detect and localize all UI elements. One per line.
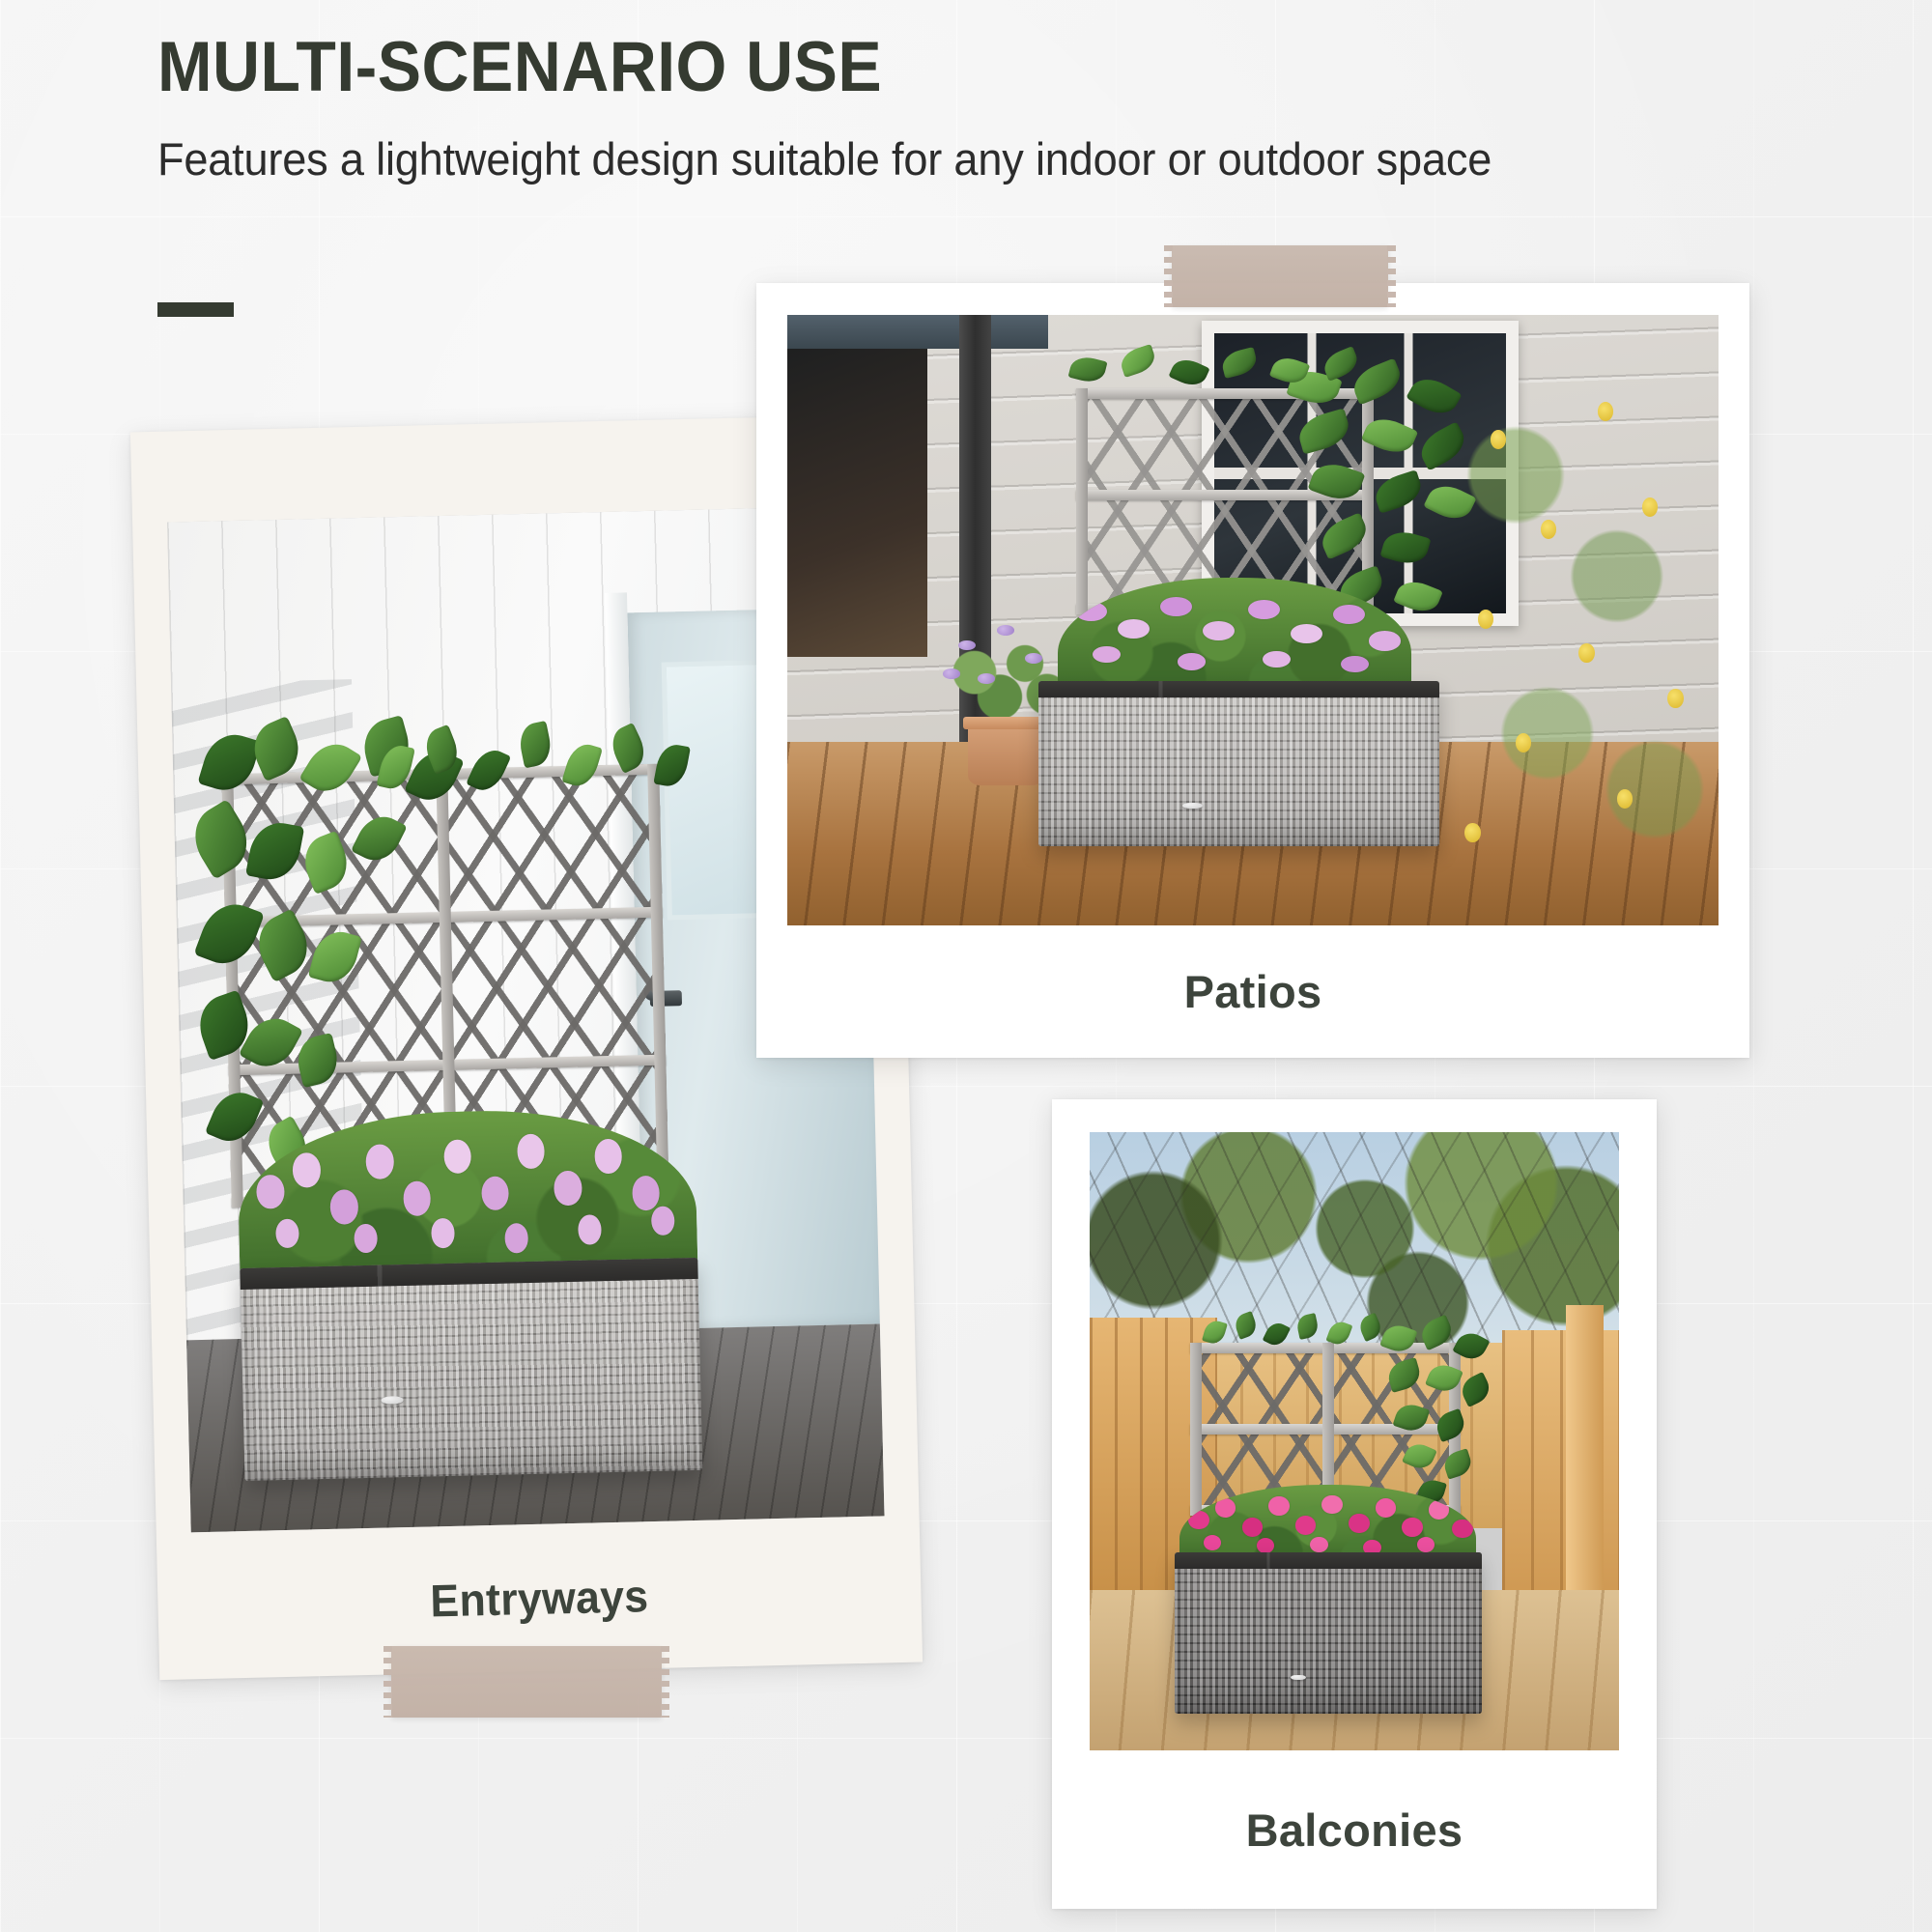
card-caption-patios: Patios [756,925,1749,1058]
scene-patio [787,315,1719,925]
header-block: MULTI-SCENARIO USE Features a lightweigh… [157,31,1858,185]
photo-card-balconies[interactable]: Balconies [1052,1099,1657,1909]
climbing-vine-top [1196,1312,1418,1361]
photo-card-patios[interactable]: Patios [756,283,1749,1058]
rattan-planter-box [1175,1552,1482,1713]
rattan-planter-box [241,1258,703,1481]
scene-balcony [1090,1132,1619,1750]
photo-patios [787,315,1719,925]
dark-doorway [787,315,927,657]
page-title: MULTI-SCENARIO USE [157,31,1739,105]
brand-badge [1182,803,1203,809]
terracotta-pot [968,723,1044,784]
photo-balconies [1090,1132,1619,1750]
brand-badge [1291,1675,1306,1681]
planter-rim [1175,1552,1482,1569]
accent-dash [157,302,234,317]
tape-strip-entryways [391,1646,662,1718]
card-frame: Balconies [1052,1099,1657,1909]
caption-text: Entryways [430,1569,649,1627]
roof-beam [787,315,1048,349]
brand-badge [381,1396,404,1404]
climbing-vine-top [366,712,702,851]
caption-text: Patios [1184,965,1322,1018]
card-caption-balconies: Balconies [1052,1750,1657,1909]
caption-text: Balconies [1246,1804,1463,1857]
page-subtitle: Features a lightweight design suitable f… [157,132,1790,185]
planter-rim [1038,681,1439,697]
card-frame: Patios [756,283,1749,1058]
rattan-planter-box [1038,681,1439,846]
tape-strip-patios [1172,245,1388,307]
climbing-vine-top [1058,346,1375,407]
